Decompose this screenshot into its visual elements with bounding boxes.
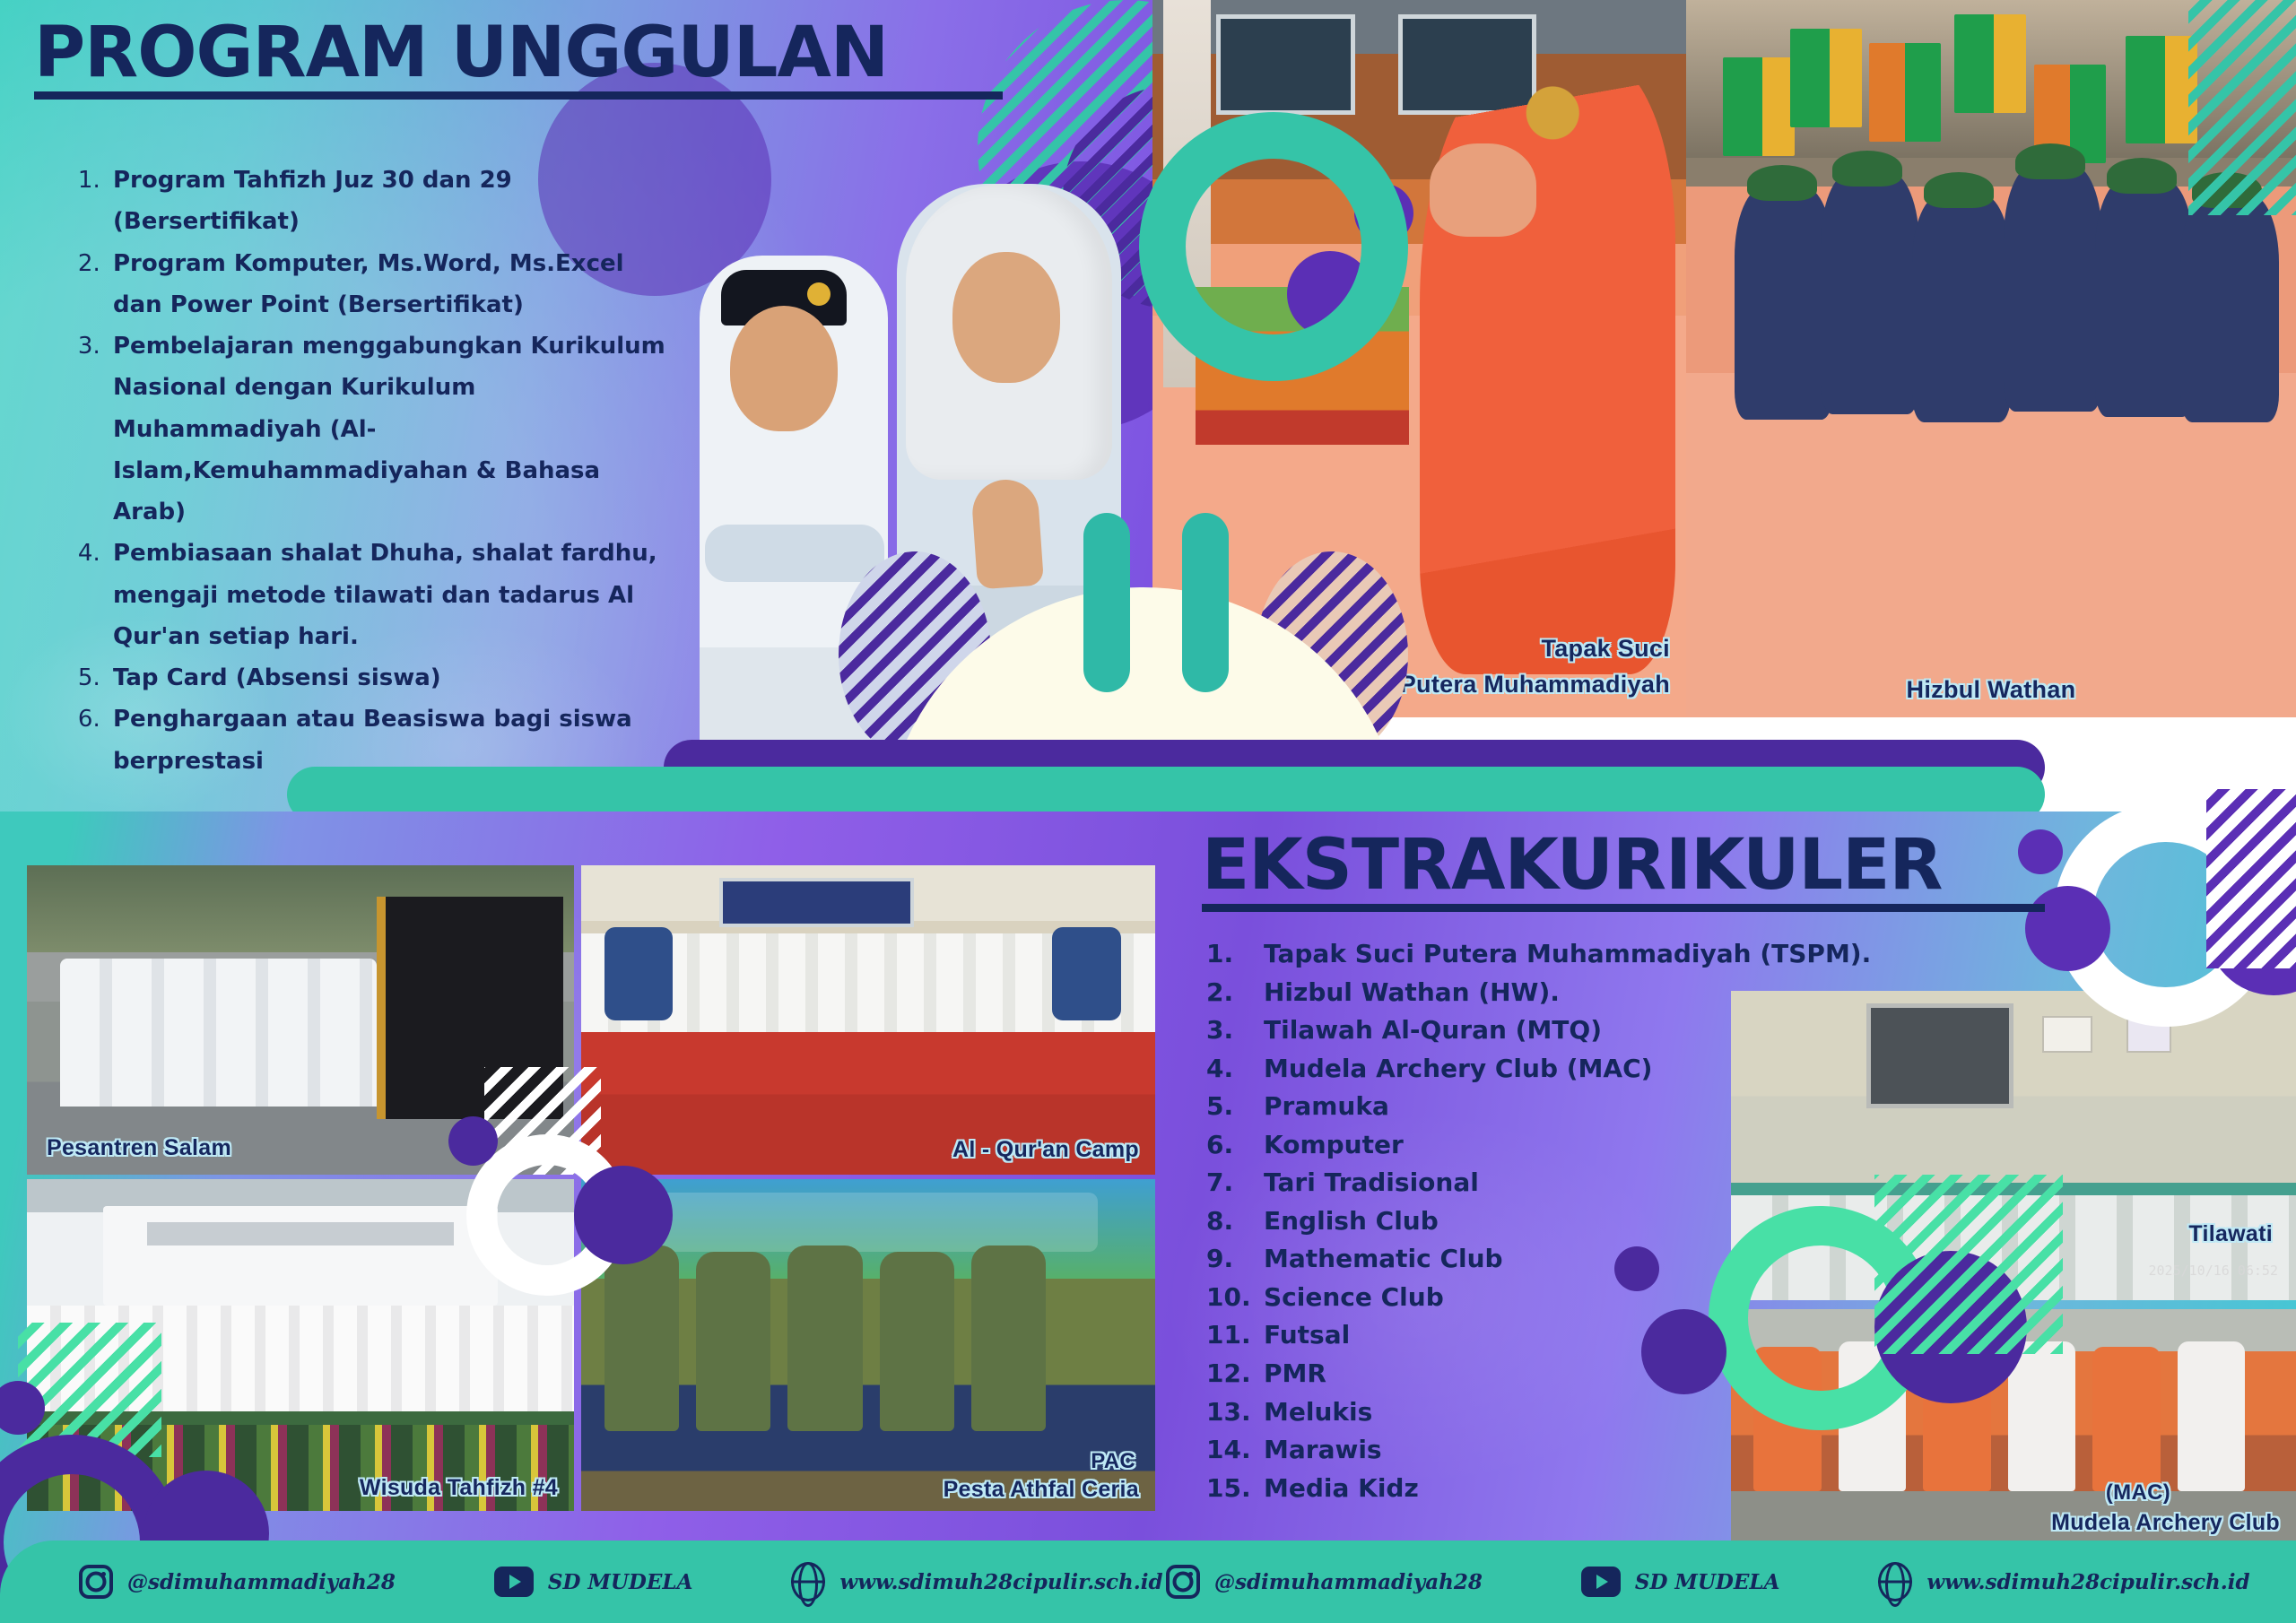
- decor-teal-stripes-farright: [2188, 0, 2296, 215]
- ekskul-item-number: 4.: [1206, 1050, 1253, 1089]
- caption-pesta-athfal-line1: PAC: [1091, 1450, 1135, 1473]
- ekskul-item: 3.Tilawah Al-Quran (MTQ): [1206, 1011, 1888, 1050]
- ekskul-item: 6.Komputer: [1206, 1126, 1888, 1165]
- youtube-icon: [1581, 1567, 1621, 1597]
- caption-hizbul-wathan: Hizbul Wathan: [1907, 677, 2076, 703]
- ekskul-item-number: 5.: [1206, 1088, 1253, 1126]
- photo-timestamp-tilawati: 2025/10/16 06:52: [2149, 1263, 2279, 1279]
- program-item: Program Komputer, Ms.Word, Ms.Excel dan …: [108, 243, 680, 326]
- globe-icon: [1878, 1562, 1912, 1601]
- ekskul-item: 7.Tari Tradisional: [1206, 1164, 1888, 1202]
- ekstrakurikuler-list: 1.Tapak Suci Putera Muhammadiyah (TSPM).…: [1206, 935, 1888, 1507]
- ekskul-item: 4.Mudela Archery Club (MAC): [1206, 1050, 1888, 1089]
- ekskul-item: 1.Tapak Suci Putera Muhammadiyah (TSPM).: [1206, 935, 1888, 974]
- ekskul-item: 5.Pramuka: [1206, 1088, 1888, 1126]
- footer-bar: @sdimuhammadiyah28 SD MUDELA www.sdimuh2…: [0, 1541, 2296, 1623]
- footer-block-left: @sdimuhammadiyah28 SD MUDELA www.sdimuh2…: [0, 1562, 1148, 1601]
- ekskul-item-label: Tari Tradisional: [1264, 1164, 1479, 1202]
- ekskul-item-label: PMR: [1264, 1355, 1326, 1393]
- caption-wisuda-tahfizh: Wisuda Tahfizh #4: [360, 1476, 558, 1500]
- ekskul-item-number: 3.: [1206, 1011, 1253, 1050]
- ekskul-item-number: 12.: [1206, 1355, 1253, 1393]
- ekskul-item-number: 13.: [1206, 1393, 1253, 1432]
- program-title-text: PROGRAM UNGGULAN: [34, 13, 888, 93]
- ekskul-item-label: Marawis: [1264, 1431, 1382, 1470]
- footer-website-url: www.sdimuh28cipulir.sch.id: [1926, 1570, 2249, 1594]
- footer-youtube-left[interactable]: SD MUDELA: [494, 1567, 693, 1597]
- ekskul-item-label: Tilawah Al-Quran (MTQ): [1264, 1011, 1602, 1050]
- footer-youtube-right[interactable]: SD MUDELA: [1581, 1567, 1780, 1597]
- ekskul-item-label: English Club: [1264, 1202, 1439, 1241]
- ekskul-item-number: 9.: [1206, 1240, 1253, 1279]
- footer-instagram-handle: @sdimuhammadiyah28: [1214, 1570, 1483, 1594]
- footer-website-right[interactable]: www.sdimuh28cipulir.sch.id: [1878, 1562, 2249, 1601]
- ekskul-item-label: Mudela Archery Club (MAC): [1264, 1050, 1652, 1089]
- ekskul-item-label: Media Kidz: [1264, 1470, 1419, 1508]
- ekskul-item: 13.Melukis: [1206, 1393, 1888, 1432]
- ekskul-item: 11.Futsal: [1206, 1316, 1888, 1355]
- ekskul-item: 10.Science Club: [1206, 1279, 1888, 1317]
- youtube-icon: [494, 1567, 534, 1597]
- ekskul-item-number: 15.: [1206, 1470, 1253, 1508]
- ekskul-item-number: 7.: [1206, 1164, 1253, 1202]
- program-item: Penghargaan atau Beasiswa bagi siswa ber…: [108, 699, 680, 782]
- decor-purple-disc-midleft: [574, 1166, 673, 1264]
- ekskul-item: 2.Hizbul Wathan (HW).: [1206, 974, 1888, 1012]
- ekskul-item: 8.English Club: [1206, 1202, 1888, 1241]
- footer-youtube-handle: SD MUDELA: [548, 1570, 693, 1594]
- ekskul-item: 12.PMR: [1206, 1355, 1888, 1393]
- ekskul-item-number: 14.: [1206, 1431, 1253, 1470]
- footer-instagram-handle: @sdimuhammadiyah28: [127, 1570, 396, 1594]
- caption-pesta-athfal-line2: Pesta Athfal Ceria: [944, 1478, 1139, 1502]
- ekskul-item-number: 2.: [1206, 974, 1253, 1012]
- instagram-icon: [79, 1565, 113, 1599]
- decor-teal-ring-top: [1139, 112, 1408, 381]
- program-item: Tap Card (Absensi siswa): [108, 657, 680, 699]
- footer-website-left[interactable]: www.sdimuh28cipulir.sch.id: [791, 1562, 1162, 1601]
- decor-teal-pill-1: [1083, 513, 1130, 692]
- ekskul-item-label: Mathematic Club: [1264, 1240, 1503, 1279]
- footer-youtube-handle: SD MUDELA: [1635, 1570, 1780, 1594]
- ekskul-item-label: Melukis: [1264, 1393, 1372, 1432]
- ekstrakurikuler-title-text: EKSTRAKURIKULER: [1202, 825, 1942, 906]
- ekskul-item: 14.Marawis: [1206, 1431, 1888, 1470]
- caption-tapak-suci-line2: Putera Muhammadiyah: [1400, 672, 1670, 698]
- page-title-ekstrakurikuler: EKSTRAKURIKULER: [1202, 825, 2045, 912]
- ekskul-item-label: Pramuka: [1264, 1088, 1389, 1126]
- footer-block-right: @sdimuhammadiyah28 SD MUDELA www.sdimuh2…: [1148, 1562, 2296, 1601]
- page-title-program: PROGRAM UNGGULAN: [34, 13, 1003, 100]
- ekskul-item-label: Science Club: [1264, 1279, 1444, 1317]
- program-unggulan-list: Program Tahfizh Juz 30 dan 29 (Bersertif…: [70, 160, 680, 782]
- footer-website-url: www.sdimuh28cipulir.sch.id: [839, 1570, 1162, 1594]
- caption-tapak-suci-line1: Tapak Suci: [1541, 636, 1670, 662]
- decor-teal-stripes-mid: [1874, 1175, 2063, 1354]
- program-item: Pembiasaan shalat Dhuha, shalat fardhu, …: [108, 533, 680, 657]
- ekskul-item-label: Hizbul Wathan (HW).: [1264, 974, 1560, 1012]
- caption-archery-line1: (MAC): [2106, 1481, 2170, 1505]
- caption-pesantren-salam: Pesantren Salam: [47, 1136, 231, 1160]
- ekskul-item: 9.Mathematic Club: [1206, 1240, 1888, 1279]
- program-item: Pembelajaran menggabungkan Kurikulum Nas…: [108, 325, 680, 533]
- program-item: Program Tahfizh Juz 30 dan 29 (Bersertif…: [108, 160, 680, 243]
- ekskul-item-number: 10.: [1206, 1279, 1253, 1317]
- poster-root: Tapak Suci Putera Muhammadiyah Hizbul Wa…: [0, 0, 2296, 1623]
- photo-alquran-camp: Al - Qur'an Camp: [581, 865, 1155, 1175]
- ekskul-item-number: 11.: [1206, 1316, 1253, 1355]
- footer-instagram-left[interactable]: @sdimuhammadiyah28: [79, 1565, 396, 1599]
- decor-purple-stripes-right: [2206, 789, 2296, 968]
- ekskul-item-number: 1.: [1206, 935, 1253, 974]
- decor-purple-disc-midleft-2: [448, 1116, 498, 1166]
- ekskul-item-number: 8.: [1206, 1202, 1253, 1241]
- decor-teal-pill-2: [1182, 513, 1229, 692]
- caption-tilawati: Tilawati: [2188, 1222, 2273, 1246]
- ekskul-item-number: 6.: [1206, 1126, 1253, 1165]
- globe-icon: [791, 1562, 825, 1601]
- caption-alquran-camp: Al - Qur'an Camp: [952, 1138, 1139, 1162]
- ekskul-item-label: Komputer: [1264, 1126, 1404, 1165]
- ekskul-item-label: Tapak Suci Putera Muhammadiyah (TSPM).: [1264, 935, 1871, 974]
- ekskul-item: 15.Media Kidz: [1206, 1470, 1888, 1508]
- caption-archery-line2: Mudela Archery Club: [2051, 1511, 2280, 1535]
- ekskul-item-label: Futsal: [1264, 1316, 1350, 1355]
- footer-instagram-right[interactable]: @sdimuhammadiyah28: [1166, 1565, 1483, 1599]
- instagram-icon: [1166, 1565, 1200, 1599]
